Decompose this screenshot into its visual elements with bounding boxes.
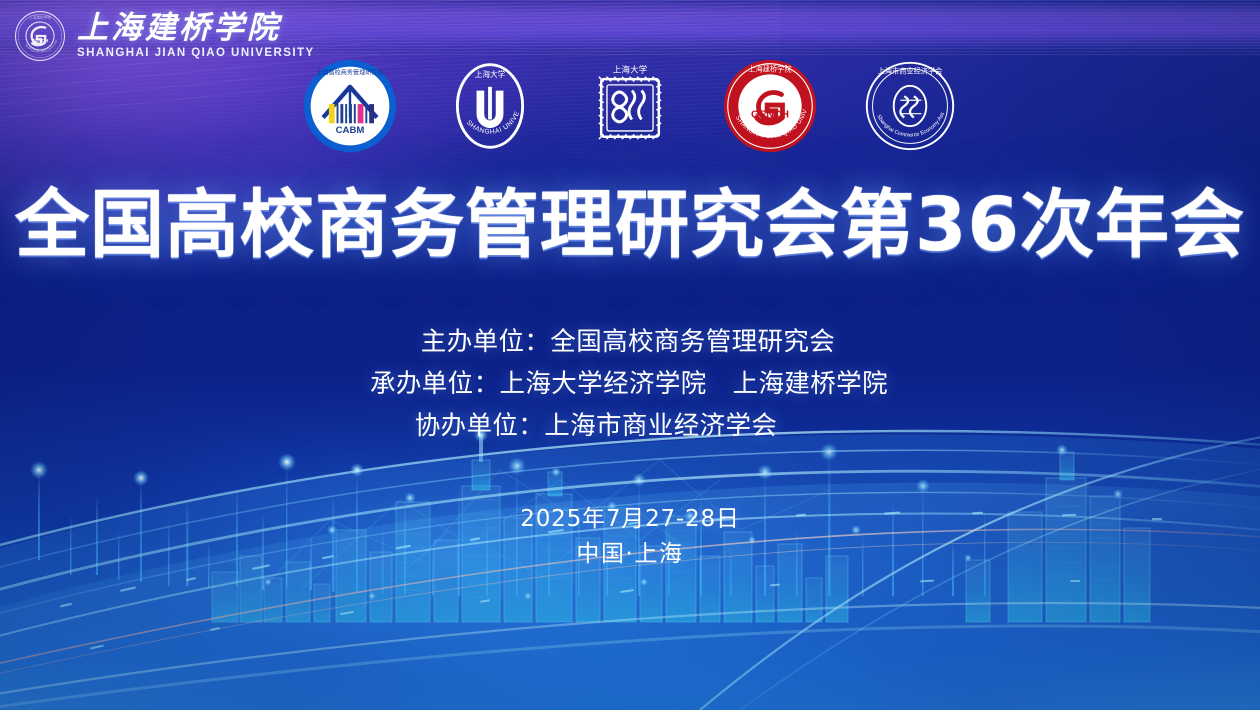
- cabm-association-logo-icon: CABM 全国高校商务管理研究会: [302, 58, 398, 154]
- brand-name-cn: 上海建桥学院: [77, 13, 315, 44]
- shanghai-commerce-economy-association-logo-icon: 上海市商业经济学会 Shanghai Commerce Economy Asso…: [862, 58, 958, 154]
- conference-banner: GENCH 上海建桥学院 SHANGHAI JIAN QIAO UNIV 上海建…: [0, 0, 1260, 710]
- shanghai-university-seal-icon: 上海大学: [582, 58, 678, 154]
- organizer-cohost: 协办单位：上海市商业经济学会: [415, 411, 778, 442]
- event-date: 2025年7月27-28日: [520, 506, 739, 534]
- event-meta: 2025年7月27-28日 中国·上海: [0, 506, 1260, 568]
- svg-text:全国高校商务管理研究会: 全国高校商务管理研究会: [316, 68, 383, 76]
- organizer-host: 主办单位：全国高校商务管理研究会: [421, 327, 835, 358]
- svg-text:上海大学: 上海大学: [475, 69, 506, 79]
- gench-university-seal-icon: GENCH 上海建桥学院 SHANGHAI JIAN QIAO UNIV: [14, 10, 66, 62]
- svg-text:GENCH: GENCH: [32, 38, 49, 43]
- svg-text:GENCH: GENCH: [751, 109, 789, 121]
- organizer-organizer: 承办单位：上海大学经济学院 上海建桥学院: [370, 369, 888, 400]
- svg-text:上海建桥学院: 上海建桥学院: [29, 14, 51, 19]
- shanghai-university-logo-icon: 上海大学 SHANGHAI UNIVERSITY: [442, 58, 538, 154]
- university-brand: GENCH 上海建桥学院 SHANGHAI JIAN QIAO UNIV 上海建…: [14, 10, 315, 62]
- event-place: 中国·上海: [576, 541, 683, 569]
- partner-logo-row: CABM 全国高校商务管理研究会 上海大学 SHANGHAI UNIVERSIT…: [0, 58, 1260, 154]
- gench-university-logo-icon: GENCH 上海建桥学院 SHANGHAI JIAN QIAO UNIVERSI…: [722, 58, 818, 154]
- organizer-block: 主办单位：全国高校商务管理研究会 承办单位：上海大学经济学院 上海建桥学院 协办…: [0, 327, 1260, 442]
- event-title: 全国高校商务管理研究会第36次年会: [0, 188, 1260, 262]
- svg-text:CABM: CABM: [336, 125, 365, 136]
- svg-text:上海市商业经济学会: 上海市商业经济学会: [878, 66, 943, 75]
- svg-text:上海大学: 上海大学: [613, 63, 648, 74]
- svg-text:上海建桥学院: 上海建桥学院: [748, 64, 791, 73]
